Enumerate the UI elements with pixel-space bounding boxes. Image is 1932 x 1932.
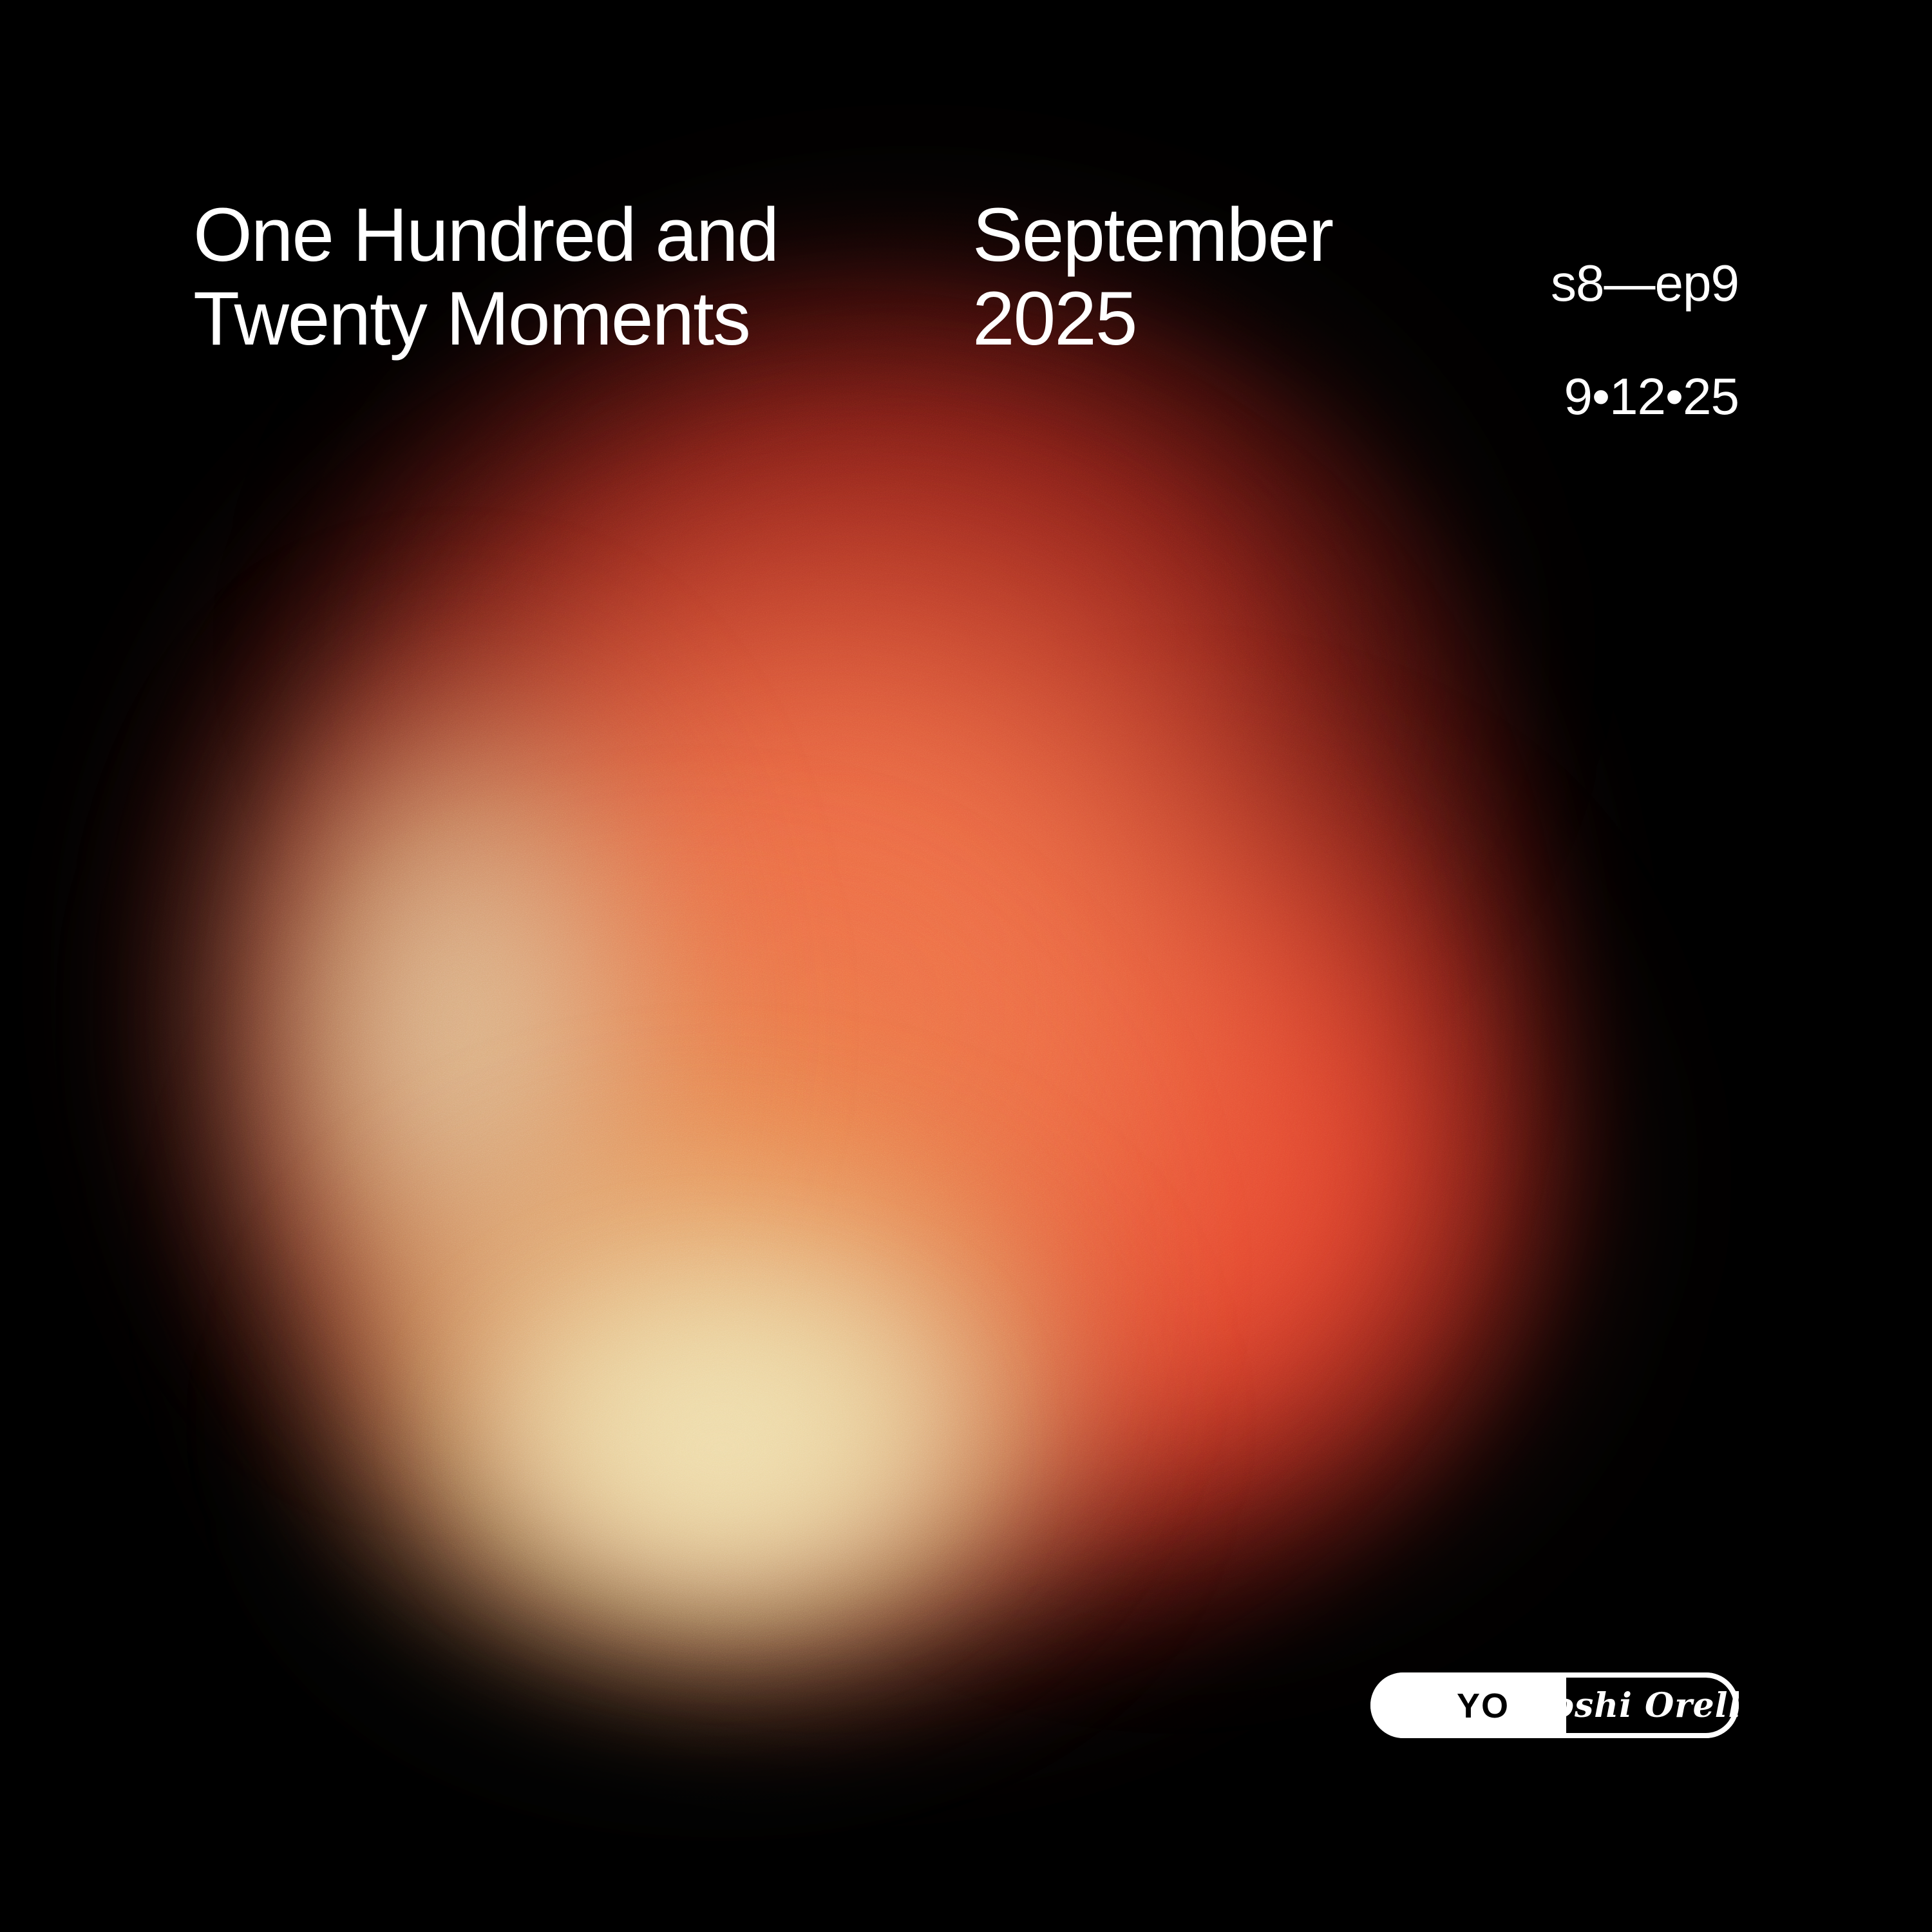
page-title: One Hundred and Twenty Moments [193,193,889,361]
blob-layer-cream [309,1133,1133,1713]
blob-layer-orange [245,438,1417,1584]
season-episode-label: s8—ep9 [1275,255,1739,312]
signature-badge[interactable]: YO Yoshi Orell [1370,1672,1739,1738]
badge-mark-label: YO [1457,1687,1510,1725]
blob-layer-red-orange [760,760,1597,1597]
blob-layer-amber [270,889,1108,1662]
poster-canvas: One Hundred and Twenty Moments September… [0,0,1932,1932]
blob-layer-cream-left [213,644,702,1404]
blob-layer-cream-core [489,1307,953,1591]
poster-header: One Hundred and Twenty Moments September… [193,193,1739,374]
badge-signature-label: Yoshi Orell [1530,1686,1739,1725]
airdate-label: 9•12•25 [1275,368,1739,425]
episode-marker: s8—ep9 9•12•25 [1275,198,1739,482]
